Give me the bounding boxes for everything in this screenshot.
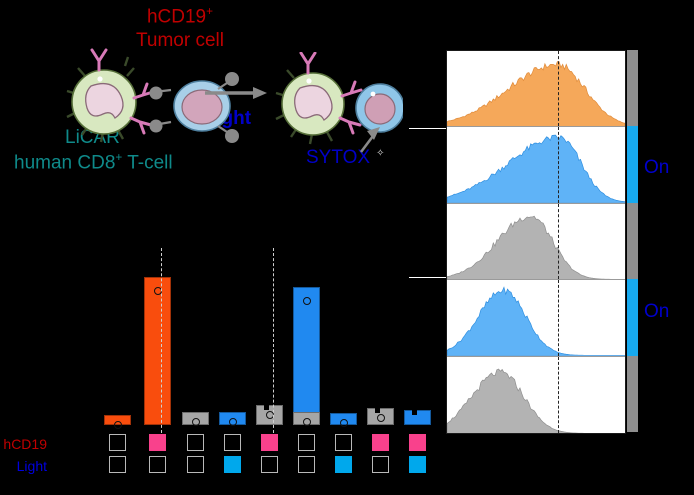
hist-2-area (447, 136, 625, 203)
dying-tumor-highlight-icon (371, 92, 376, 97)
on-label-top: On (644, 158, 669, 177)
checkbox-hcd19-1-2[interactable] (149, 434, 166, 451)
hist-5-area (447, 369, 625, 433)
gate-line-1 (558, 51, 559, 126)
bar-data-point-marker (114, 421, 122, 429)
checkbox-light-3-3[interactable] (372, 456, 389, 473)
bar-3-3 (367, 408, 394, 425)
checkbox-light-2-1[interactable] (187, 456, 204, 473)
sytox-pointer-arrow-icon (361, 127, 380, 152)
condition-matrix (0, 432, 400, 488)
checkbox-light-2-3[interactable] (261, 456, 278, 473)
checkbox-hcd19-2-3[interactable] (261, 434, 278, 451)
bar-data-point-marker (303, 297, 311, 305)
flow-cytometry-panel (446, 50, 626, 434)
bar-data-point-marker (192, 418, 200, 426)
bar-2-3 (256, 405, 283, 425)
hist-4 (447, 280, 625, 356)
checkbox-light-3-1[interactable] (298, 456, 315, 473)
tumor-label-line1: hCD19 (147, 6, 206, 27)
checkbox-hcd19-3-1[interactable] (298, 434, 315, 451)
group-separator-1 (161, 248, 162, 438)
cell-pair-before-light (55, 46, 240, 161)
hist-5 (447, 357, 625, 433)
gate-line-4 (558, 280, 559, 355)
checkbox-light-3-4[interactable] (409, 456, 426, 473)
bar-2-1 (182, 412, 209, 425)
checkbox-hcd19-3-2[interactable] (335, 434, 352, 451)
hist-1 (447, 51, 625, 127)
bar-data-point-marker (377, 414, 385, 422)
side-strip-gray-5 (627, 356, 638, 432)
dying-tumor-nucleus-icon (365, 94, 395, 124)
gate-line-3 (558, 204, 559, 279)
tcell-highlight-icon-2 (306, 78, 311, 83)
checkbox-light-1-1[interactable] (109, 456, 126, 473)
side-strip-gray-1 (627, 50, 638, 126)
gate-line-5 (558, 357, 559, 433)
bar-data-point-marker (229, 418, 237, 426)
hist-2 (447, 127, 625, 203)
bar-3-2 (330, 413, 357, 425)
tumor-cell-label: hCD19+ Tumor cell (125, 6, 235, 50)
condition-side-strip (627, 50, 638, 432)
side-strip-cyan-4 (627, 279, 638, 355)
bar-1-1 (104, 415, 131, 425)
hist-4-area (447, 287, 625, 355)
hist-3-area (447, 216, 625, 279)
hist-3 (447, 204, 625, 280)
panel-connector-tick-bottom (409, 277, 447, 278)
bar-3-1 (293, 412, 320, 425)
gate-line-2 (558, 127, 559, 202)
side-strip-cyan-2 (627, 126, 638, 202)
group-separator-2 (273, 248, 274, 438)
bar-data-point-marker (340, 419, 348, 427)
checkbox-light-1-2[interactable] (149, 456, 166, 473)
checkbox-light-2-2[interactable] (224, 456, 241, 473)
tcell-highlight-icon (97, 76, 102, 81)
checkbox-hcd19-2-1[interactable] (187, 434, 204, 451)
bar-2-2 (219, 412, 246, 425)
checkbox-hcd19-2-2[interactable] (224, 434, 241, 451)
bar-2-4 (293, 287, 320, 425)
checkbox-hcd19-1-1[interactable] (109, 434, 126, 451)
bar-1-2 (144, 277, 171, 425)
checkbox-light-3-2[interactable] (335, 456, 352, 473)
bar-data-point-marker (303, 418, 311, 426)
checkbox-hcd19-3-3[interactable] (372, 434, 389, 451)
figure-root: hCD19+ Tumor cell LiCAR human CD8+ T-cel… (0, 0, 694, 495)
tumor-label-superscript: + (206, 5, 213, 18)
panel-connector-tick-top (409, 128, 447, 129)
checkbox-hcd19-3-4[interactable] (409, 434, 426, 451)
side-strip-gray-3 (627, 203, 638, 279)
on-label-bottom: On (644, 302, 669, 321)
light-transition-arrow-icon (205, 86, 267, 100)
hist-1-area (447, 62, 625, 127)
bar-3-4 (404, 410, 431, 425)
antigen-linker-icon (150, 87, 172, 133)
cell-pair-after-light (268, 52, 403, 162)
